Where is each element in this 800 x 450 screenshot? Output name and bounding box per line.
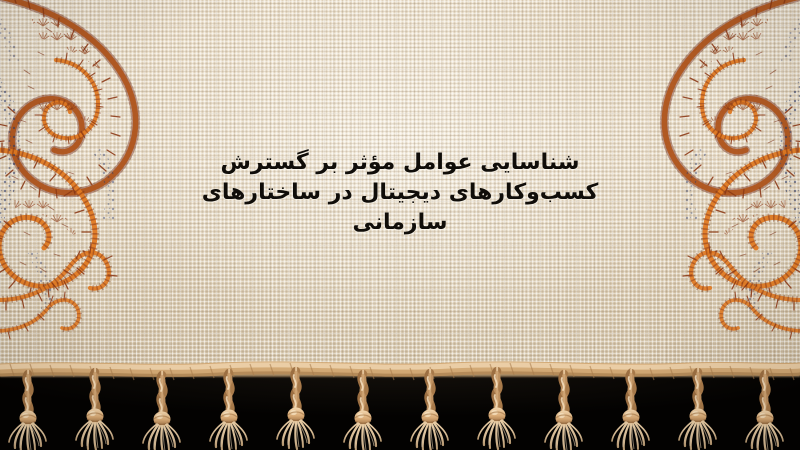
title-line-1: شناسایی عوامل مؤثر بر گسترش — [0, 148, 800, 178]
slide-title: شناسایی عوامل مؤثر بر گسترش کسب‌وکارهای … — [0, 148, 800, 238]
title-line-3: سازمانی — [0, 208, 800, 238]
lower-dark-band — [0, 370, 800, 450]
presentation-slide: شناسایی عوامل مؤثر بر گسترش کسب‌وکارهای … — [0, 0, 800, 450]
fabric-hem-edge — [0, 362, 800, 378]
title-line-2: کسب‌وکارهای دیجیتال در ساختارهای — [0, 178, 800, 208]
